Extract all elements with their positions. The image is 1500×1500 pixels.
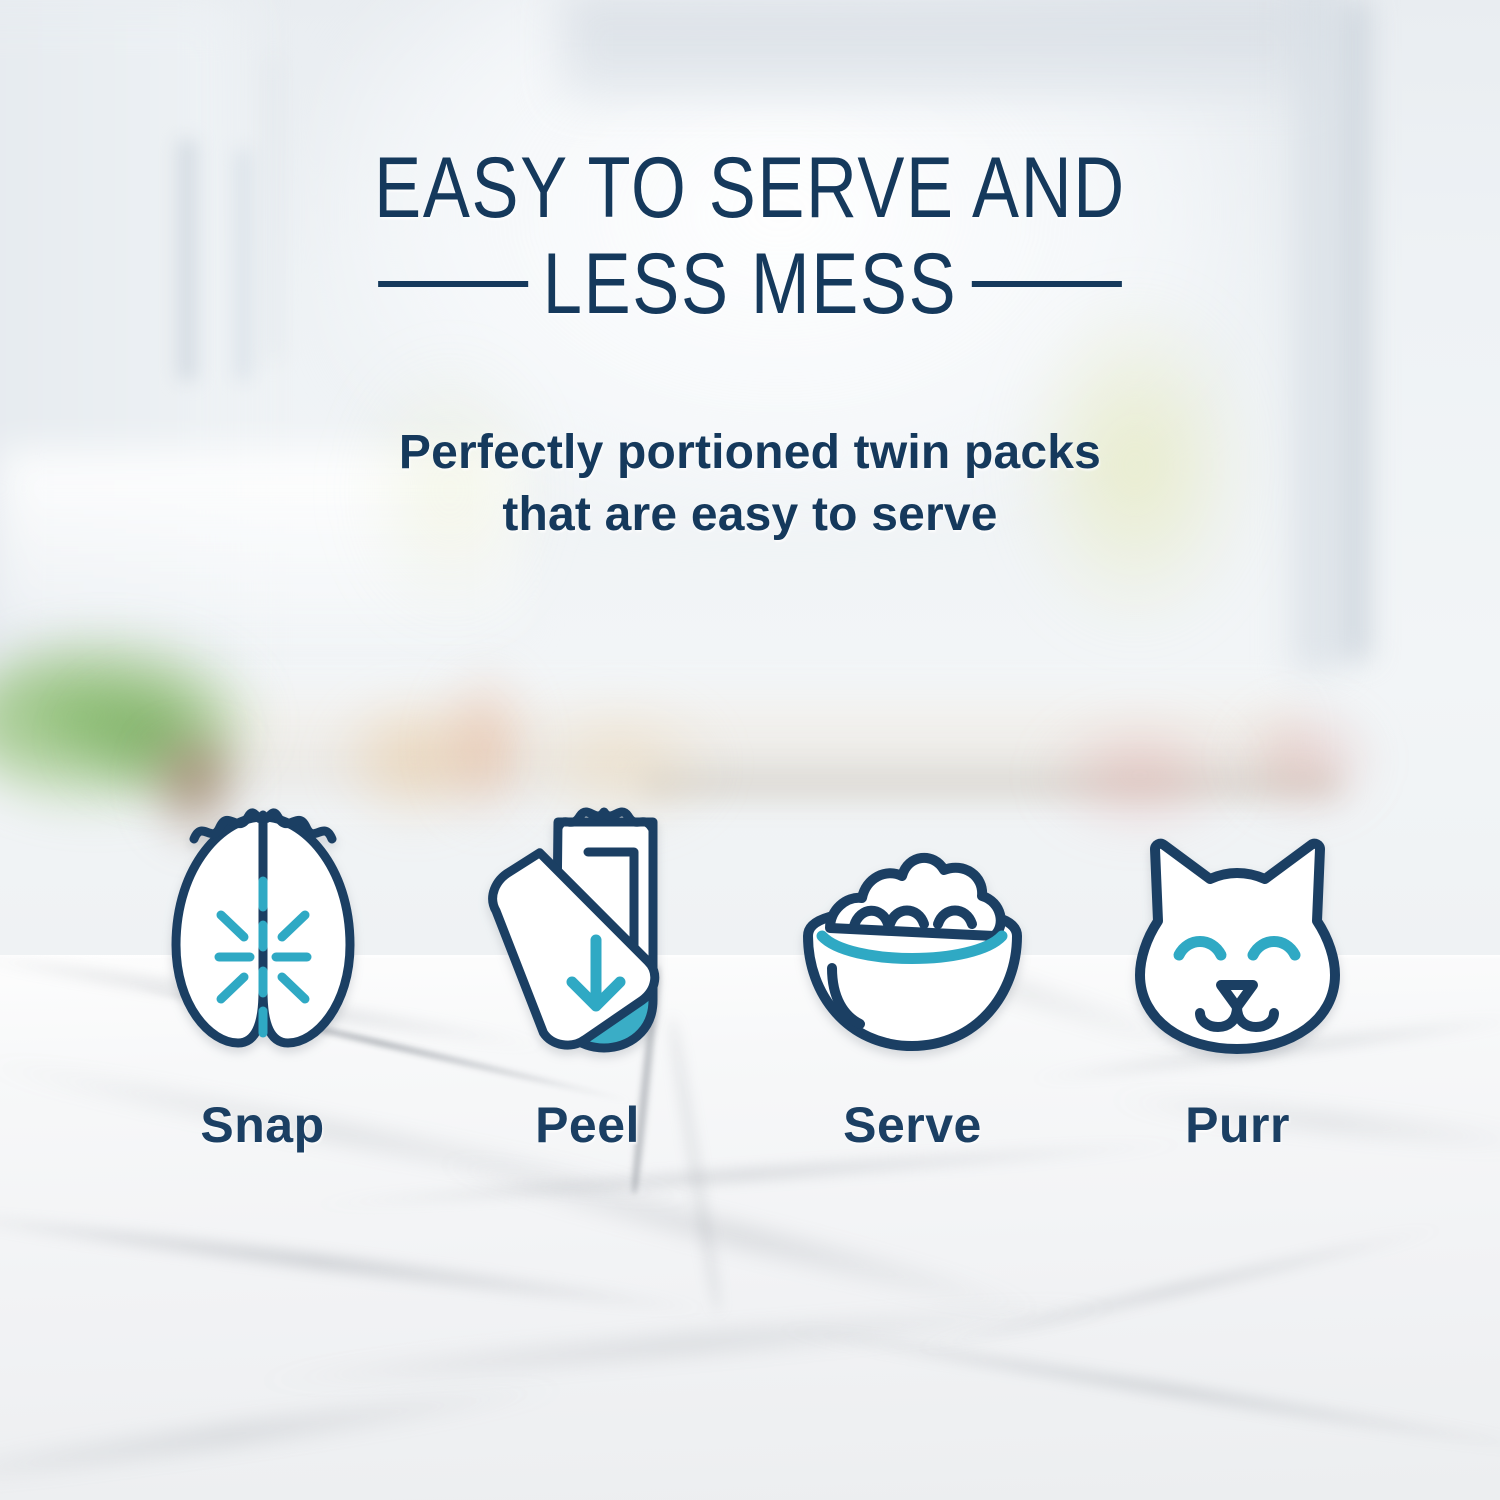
shelf-blur xyxy=(120,700,1300,790)
step-label-purr: Purr xyxy=(1185,1096,1290,1154)
plant-blur xyxy=(0,640,260,810)
step-purr: Purr xyxy=(1075,790,1400,1154)
marble-vein xyxy=(241,1296,1139,1392)
marble-vein xyxy=(0,1206,718,1317)
cabinet-blur xyxy=(560,0,1320,100)
step-snap: Snap xyxy=(100,790,425,1154)
step-serve: Serve xyxy=(750,790,1075,1154)
subtitle-line-2: that are easy to serve xyxy=(0,484,1500,546)
food-bowl-icon xyxy=(790,790,1035,1060)
step-peel: Peel xyxy=(425,790,750,1154)
divider-rule-right xyxy=(972,281,1122,287)
step-label-serve: Serve xyxy=(843,1096,982,1154)
headline-line-2-row: LESS MESS xyxy=(135,236,1365,332)
headline: EASY TO SERVE AND LESS MESS xyxy=(135,140,1365,332)
steps-row: Snap xyxy=(100,790,1400,1154)
subtitle-line-1: Perfectly portioned twin packs xyxy=(0,422,1500,484)
cat-face-icon xyxy=(1130,790,1345,1060)
step-label-peel: Peel xyxy=(535,1096,640,1154)
headline-line-2: LESS MESS xyxy=(543,236,958,332)
pouch-peel-icon xyxy=(488,790,688,1060)
marble-vein xyxy=(906,1222,1453,1356)
step-label-snap: Snap xyxy=(200,1096,324,1154)
headline-line-1: EASY TO SERVE AND xyxy=(135,140,1365,236)
plant-blur xyxy=(60,670,240,800)
marble-vein xyxy=(764,1321,1500,1459)
wall-blur xyxy=(0,0,240,700)
marble-vein xyxy=(0,1376,578,1493)
divider-rule-left xyxy=(378,281,528,287)
promo-image: EASY TO SERVE AND LESS MESS Perfectly po… xyxy=(0,0,1500,1500)
subtitle: Perfectly portioned twin packs that are … xyxy=(0,422,1500,546)
twin-pack-snap-icon xyxy=(158,790,368,1060)
